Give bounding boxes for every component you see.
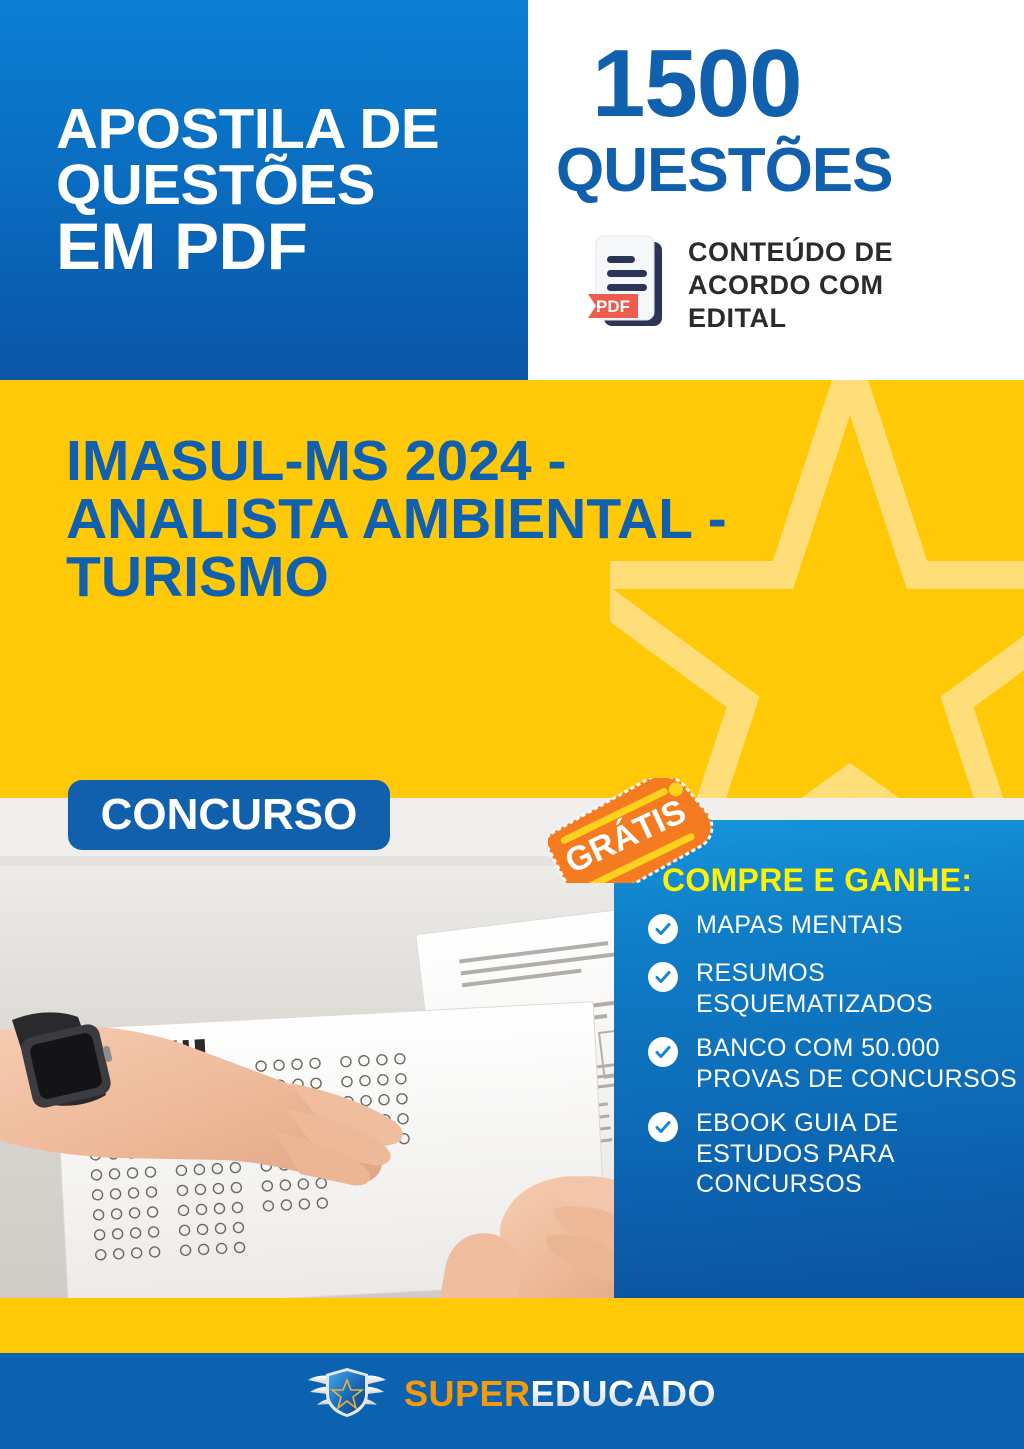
offer-panel: COMPRE E GANHE: MAPAS MENTAIS RESUMOS ES… <box>614 820 1024 1298</box>
offer-list-item: EBOOK GUIA DE ESTUDOS PARA CONCURSOS <box>648 1108 1020 1200</box>
offer-item-label: MAPAS MENTAIS <box>696 910 903 941</box>
gratis-tag: GRÁTIS <box>548 778 720 883</box>
offer-item-label: RESUMOS ESQUEMATIZADOS <box>696 958 1020 1019</box>
offer-list: MAPAS MENTAIS RESUMOS ESQUEMATIZADOS BAN… <box>648 910 1020 1214</box>
offer-list-item: MAPAS MENTAIS <box>648 910 1020 944</box>
question-count: 1500 <box>592 36 802 132</box>
title-line-2: ANALISTA AMBIENTAL - <box>66 490 926 548</box>
offer-list-item: BANCO COM 50.000 PROVAS DE CONCURSOS <box>648 1033 1020 1094</box>
brand-educado: EDUCADO <box>531 1373 717 1414</box>
shield-logo-icon <box>308 1366 386 1423</box>
check-icon <box>648 962 678 992</box>
edital-text: CONTEÚDO DE ACORDO COM EDITAL <box>688 232 893 335</box>
poster-root: APOSTILA DE QUESTÕES EM PDF 1500 QUESTÕE… <box>0 0 1024 1449</box>
footer-brand: SUPEREDUCADO <box>0 1353 1024 1449</box>
check-icon <box>648 1037 678 1067</box>
pdf-file-icon: PDF <box>588 232 666 332</box>
page-title: IMASUL-MS 2024 - ANALISTA AMBIENTAL - TU… <box>66 432 926 606</box>
edital-line-3: EDITAL <box>688 302 893 335</box>
pdf-badge-text: PDF <box>596 297 630 316</box>
check-icon <box>648 914 678 944</box>
edital-line-1: CONTEÚDO DE <box>688 236 893 269</box>
footer: SUPEREDUCADO <box>0 1353 1024 1449</box>
brand-wordmark: SUPEREDUCADO <box>404 1373 716 1415</box>
header: APOSTILA DE QUESTÕES EM PDF 1500 QUESTÕE… <box>0 0 1024 380</box>
concurso-badge[interactable]: CONCURSO <box>68 780 390 850</box>
offer-item-label: EBOOK GUIA DE ESTUDOS PARA CONCURSOS <box>696 1108 1020 1200</box>
check-icon <box>648 1112 678 1142</box>
yellow-divider-strip <box>0 1298 1024 1353</box>
question-count-label: QUESTÕES <box>556 140 893 202</box>
header-line-2: QUESTÕES <box>56 158 537 214</box>
header-line-3: EM PDF <box>56 214 537 279</box>
header-line-1: APOSTILA DE <box>56 102 537 158</box>
edital-row: PDF CONTEÚDO DE ACORDO COM EDITAL <box>588 232 1018 335</box>
offer-list-item: RESUMOS ESQUEMATIZADOS <box>648 958 1020 1019</box>
header-left-panel: APOSTILA DE QUESTÕES EM PDF <box>0 0 528 380</box>
title-line-3: TURISMO <box>66 548 926 606</box>
concurso-badge-label: CONCURSO <box>101 790 358 840</box>
header-right-panel: 1500 QUESTÕES PDF CONTEÚDO DE <box>528 0 1024 380</box>
offer-item-label: BANCO COM 50.000 PROVAS DE CONCURSOS <box>696 1033 1020 1094</box>
brand-super: SUPER <box>404 1373 531 1414</box>
title-band: IMASUL-MS 2024 - ANALISTA AMBIENTAL - TU… <box>0 380 1024 798</box>
title-line-1: IMASUL-MS 2024 - <box>66 432 926 490</box>
edital-line-2: ACORDO COM <box>688 269 893 302</box>
